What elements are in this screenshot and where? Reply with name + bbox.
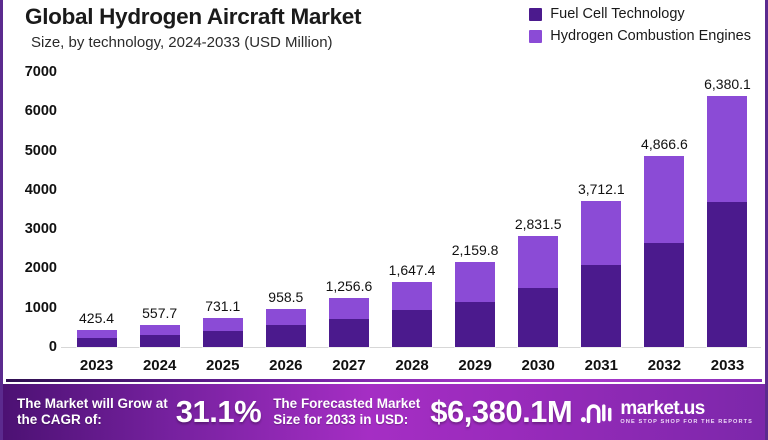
bar-column-2025[interactable]: 731.1 (191, 72, 254, 347)
y-axis-tick-label: 4000 (25, 182, 57, 198)
bar-stack (77, 330, 117, 347)
bar-segment-hydrogen-combustion-engines[interactable] (140, 325, 180, 335)
bar-total-label: 731.1 (205, 298, 240, 314)
bar-segment-hydrogen-combustion-engines[interactable] (77, 330, 117, 338)
bar-total-label: 1,647.4 (389, 262, 436, 278)
cagr-caption-line2: the CAGR of: (17, 412, 168, 428)
bar-segment-fuel-cell-technology[interactable] (203, 331, 243, 347)
bar-segment-hydrogen-combustion-engines[interactable] (518, 236, 558, 288)
bar-segment-hydrogen-combustion-engines[interactable] (644, 156, 684, 243)
bar-segment-fuel-cell-technology[interactable] (77, 338, 117, 347)
cagr-block: The Market will Grow at the CAGR of: 31.… (17, 394, 261, 430)
bar-column-2024[interactable]: 557.7 (128, 72, 191, 347)
x-axis-tick-label: 2023 (65, 357, 128, 374)
bar-segment-fuel-cell-technology[interactable] (581, 265, 621, 347)
forecast-value: $6,380.1M (430, 394, 572, 430)
legend-item-1[interactable]: Hydrogen Combustion Engines (529, 28, 751, 44)
logo-tagline: ONE STOP SHOP FOR THE REPORTS (620, 420, 753, 426)
bar-segment-hydrogen-combustion-engines[interactable] (266, 309, 306, 325)
bar-column-2026[interactable]: 958.5 (254, 72, 317, 347)
legend-swatch-icon (529, 30, 542, 43)
x-axis-tick-label: 2032 (633, 357, 696, 374)
legend-label: Hydrogen Combustion Engines (550, 28, 751, 44)
y-axis-tick-label: 2000 (25, 260, 57, 276)
bar-segment-fuel-cell-technology[interactable] (392, 310, 432, 347)
bar-total-label: 1,256.6 (326, 278, 373, 294)
bar-stack (644, 156, 684, 347)
market-us-logo-icon (580, 399, 614, 425)
plot-area: 01000200030004000500060007000 425.4557.7… (3, 62, 765, 384)
x-axis-tick-label: 2028 (380, 357, 443, 374)
x-axis-tick-label: 2025 (191, 357, 254, 374)
bar-segment-hydrogen-combustion-engines[interactable] (392, 282, 432, 310)
bar-total-label: 2,159.8 (452, 242, 499, 258)
bar-column-2031[interactable]: 3,712.1 (570, 72, 633, 347)
bar-total-label: 958.5 (268, 289, 303, 305)
x-axis-tick-label: 2029 (444, 357, 507, 374)
page-title: Global Hydrogen Aircraft Market (25, 4, 361, 30)
bar-column-2028[interactable]: 1,647.4 (380, 72, 443, 347)
bar-segment-fuel-cell-technology[interactable] (644, 243, 684, 348)
logo-name: market.us (620, 399, 753, 418)
bar-stack (266, 309, 306, 347)
chart-card: Global Hydrogen Aircraft Market Size, by… (0, 0, 768, 440)
forecast-caption-line2: Size for 2033 in USD: (273, 412, 420, 428)
y-axis-tick-label: 1000 (25, 300, 57, 316)
bar-stack (581, 201, 621, 347)
chart-legend: Fuel Cell TechnologyHydrogen Combustion … (529, 6, 751, 44)
bar-column-2030[interactable]: 2,831.5 (507, 72, 570, 347)
logo-text: market.us ONE STOP SHOP FOR THE REPORTS (620, 399, 753, 426)
bar-column-2023[interactable]: 425.4 (65, 72, 128, 347)
x-axis-tick-label: 2024 (128, 357, 191, 374)
bar-stack (518, 236, 558, 347)
bar-total-label: 4,866.6 (641, 136, 688, 152)
bar-total-label: 2,831.5 (515, 216, 562, 232)
x-axis: 2023202420252026202720282029203020312032… (65, 352, 759, 378)
cagr-caption: The Market will Grow at the CAGR of: (17, 396, 168, 429)
y-axis: 01000200030004000500060007000 (3, 72, 61, 347)
bar-stack (455, 262, 495, 347)
brand-logo[interactable]: market.us ONE STOP SHOP FOR THE REPORTS (580, 399, 753, 426)
legend-label: Fuel Cell Technology (550, 6, 684, 22)
axis-baseline (61, 347, 761, 348)
bar-column-2033[interactable]: 6,380.1 (696, 72, 759, 347)
y-axis-tick-label: 5000 (25, 143, 57, 159)
bar-segment-fuel-cell-technology[interactable] (140, 335, 180, 347)
forecast-caption: The Forecasted Market Size for 2033 in U… (273, 396, 420, 429)
bar-stack (392, 282, 432, 347)
forecast-caption-line1: The Forecasted Market (273, 396, 420, 412)
bar-segment-fuel-cell-technology[interactable] (518, 288, 558, 347)
cagr-caption-line1: The Market will Grow at (17, 396, 168, 412)
bar-total-label: 557.7 (142, 305, 177, 321)
bar-column-2027[interactable]: 1,256.6 (317, 72, 380, 347)
bar-column-2029[interactable]: 2,159.8 (444, 72, 507, 347)
y-axis-tick-label: 0 (49, 339, 57, 355)
cagr-value: 31.1% (176, 394, 261, 430)
bar-stack (203, 318, 243, 347)
axis-rule-decoration (6, 379, 762, 382)
bar-segment-hydrogen-combustion-engines[interactable] (329, 298, 369, 319)
bar-total-label: 3,712.1 (578, 181, 625, 197)
x-axis-tick-label: 2031 (570, 357, 633, 374)
chart-header: Global Hydrogen Aircraft Market Size, by… (3, 0, 765, 62)
bar-stack (329, 298, 369, 347)
bar-total-label: 6,380.1 (704, 76, 751, 92)
bar-segment-hydrogen-combustion-engines[interactable] (455, 262, 495, 302)
y-axis-tick-label: 6000 (25, 103, 57, 119)
bar-column-2032[interactable]: 4,866.6 (633, 72, 696, 347)
x-axis-tick-label: 2033 (696, 357, 759, 374)
bar-total-label: 425.4 (79, 310, 114, 326)
bar-segment-hydrogen-combustion-engines[interactable] (581, 201, 621, 265)
bar-group: 425.4557.7731.1958.51,256.61,647.42,159.… (65, 72, 759, 347)
x-axis-tick-label: 2030 (507, 357, 570, 374)
y-axis-tick-label: 7000 (25, 64, 57, 80)
bar-stack (707, 96, 747, 347)
bar-segment-hydrogen-combustion-engines[interactable] (203, 318, 243, 330)
forecast-block: The Forecasted Market Size for 2033 in U… (273, 394, 572, 430)
legend-swatch-icon (529, 8, 542, 21)
x-axis-tick-label: 2027 (317, 357, 380, 374)
x-axis-tick-label: 2026 (254, 357, 317, 374)
bar-stack (140, 325, 180, 347)
y-axis-tick-label: 3000 (25, 221, 57, 237)
bar-segment-fuel-cell-technology[interactable] (707, 202, 747, 347)
bar-segment-fuel-cell-technology[interactable] (266, 325, 306, 347)
legend-item-0[interactable]: Fuel Cell Technology (529, 6, 751, 22)
bar-segment-fuel-cell-technology[interactable] (455, 302, 495, 347)
bar-segment-hydrogen-combustion-engines[interactable] (707, 96, 747, 202)
chart-subtitle: Size, by technology, 2024-2033 (USD Mill… (31, 34, 333, 51)
bar-segment-fuel-cell-technology[interactable] (329, 319, 369, 347)
footer-bar: The Market will Grow at the CAGR of: 31.… (3, 384, 765, 440)
